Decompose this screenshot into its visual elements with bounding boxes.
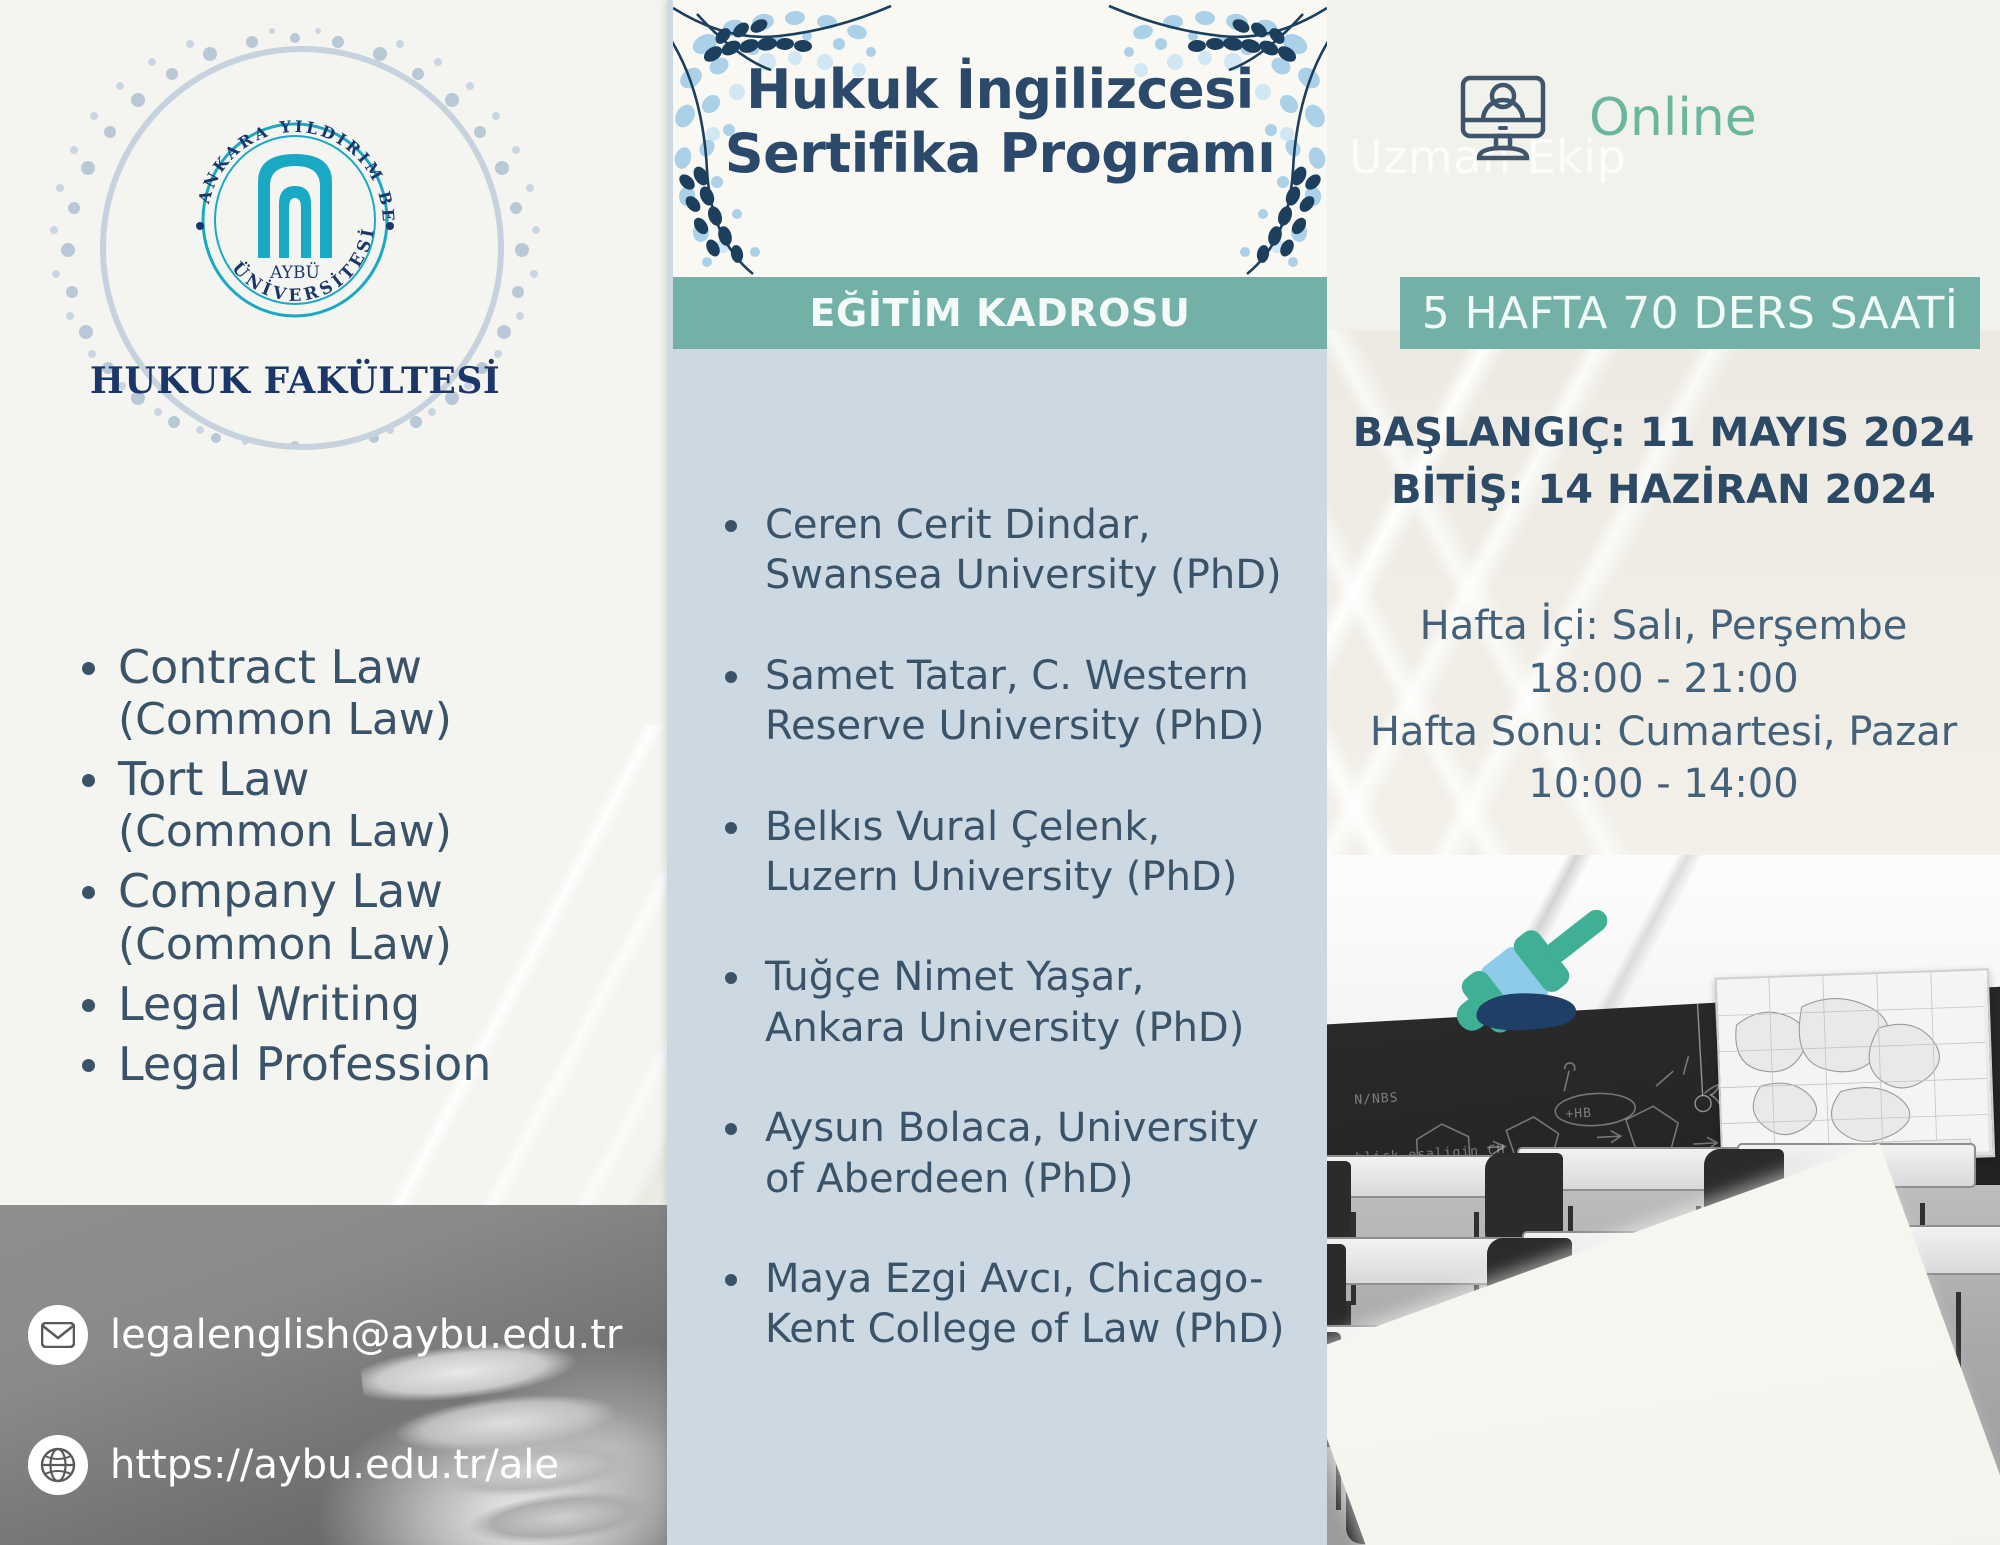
- wall-map-drawing: [1717, 970, 1989, 1160]
- end-date: BİTİŞ: 14 HAZİRAN 2024: [1327, 462, 2000, 519]
- program-title-line2: Sertifika Programı: [673, 122, 1327, 186]
- course-title: Legal Writing: [118, 977, 420, 1031]
- poster-root: AYBÜ ANKARA YILDIRIM BEYAZIT ÜNİVERSİTES…: [0, 0, 2000, 1545]
- course-title: Company Law: [118, 864, 443, 918]
- course-item: Tort Law (Common Law): [70, 752, 630, 858]
- weekday-hours: 18:00 - 21:00: [1327, 653, 2000, 706]
- start-date: BAŞLANGIÇ: 11 MAYIS 2024: [1327, 405, 2000, 462]
- right-column: Uzman Ekip Online 5 HAFTA 70 DERS SAATİ …: [1327, 0, 2000, 1545]
- contact-email-row[interactable]: legalenglish@aybu.edu.tr: [28, 1305, 622, 1365]
- faculty-name: HUKUK FAKÜLTESİ: [40, 360, 550, 402]
- course-title: Tort Law: [118, 752, 309, 806]
- program-dates: BAŞLANGIÇ: 11 MAYIS 2024 BİTİŞ: 14 HAZİR…: [1327, 405, 2000, 519]
- weekend-days: Hafta Sonu: Cumartesi, Pazar: [1327, 706, 2000, 759]
- program-title: Hukuk İngilizcesi Sertifika Programı: [673, 58, 1327, 185]
- faculty-list-item: Aysun Bolaca, University of Aberdeen (Ph…: [707, 1103, 1297, 1204]
- globe-icon: [28, 1435, 88, 1495]
- duration-badge-label: 5 HAFTA 70 DERS SAATİ: [1422, 288, 1958, 339]
- gavel-icon: [1422, 880, 1632, 1070]
- program-title-line1: Hukuk İngilizcesi: [673, 58, 1327, 122]
- course-subtitle: (Common Law): [118, 694, 630, 746]
- course-item: Contract Law (Common Law): [70, 640, 630, 746]
- online-delivery-row: Online: [1455, 68, 1757, 168]
- program-schedule: Hafta İçi: Salı, Perşembe 18:00 - 21:00 …: [1327, 600, 2000, 811]
- svg-text:AYBÜ: AYBÜ: [269, 262, 320, 283]
- aybu-crest-icon: AYBÜ ANKARA YILDIRIM BEYAZIT ÜNİVERSİTES…: [180, 120, 410, 335]
- contact-email-text: legalenglish@aybu.edu.tr: [110, 1312, 622, 1358]
- course-list: Contract Law (Common Law) Tort Law (Comm…: [70, 640, 630, 1097]
- course-item: Company Law (Common Law): [70, 864, 630, 970]
- faculty-list-item: Belkıs Vural Çelenk, Luzern University (…: [707, 802, 1297, 903]
- faculty-list-item: Samet Tatar, C. Western Reserve Universi…: [707, 651, 1297, 752]
- course-title: Legal Profession: [118, 1037, 491, 1091]
- wall-map: [1715, 968, 1995, 1166]
- online-label: Online: [1589, 88, 1757, 148]
- monitor-person-icon: [1455, 68, 1551, 168]
- contact-website-row[interactable]: https://aybu.edu.tr/ale: [28, 1435, 559, 1495]
- weekend-hours: 10:00 - 14:00: [1327, 758, 2000, 811]
- left-column: AYBÜ ANKARA YILDIRIM BEYAZIT ÜNİVERSİTES…: [0, 0, 668, 1545]
- course-subtitle: (Common Law): [118, 806, 630, 858]
- faculty-list-item: Ceren Cerit Dindar, Swansea University (…: [707, 500, 1297, 601]
- center-column: Hukuk İngilizcesi Sertifika Programı EĞİ…: [667, 0, 1327, 1545]
- faculty-section-header-label: EĞİTİM KADROSU: [810, 291, 1191, 335]
- envelope-icon: [28, 1305, 88, 1365]
- course-title: Contract Law: [118, 640, 422, 694]
- course-subtitle: (Common Law): [118, 919, 630, 971]
- contact-website-text: https://aybu.edu.tr/ale: [110, 1442, 559, 1488]
- contact-photo-panel: legalenglish@aybu.edu.tr https://aybu.ed…: [0, 1205, 668, 1545]
- svg-text:ANKARA YILDIRIM BEYAZIT: ANKARA YILDIRIM BEYAZIT: [180, 120, 398, 225]
- faculty-section-header: EĞİTİM KADROSU: [673, 277, 1327, 349]
- course-item: Legal Profession: [70, 1037, 630, 1091]
- faculty-list: Ceren Cerit Dindar, Swansea University (…: [707, 500, 1297, 1405]
- university-logo: AYBÜ ANKARA YILDIRIM BEYAZIT ÜNİVERSİTES…: [40, 28, 550, 448]
- faculty-list-item: Maya Ezgi Avcı, Chicago-Kent College of …: [707, 1254, 1297, 1355]
- course-item: Legal Writing: [70, 977, 630, 1031]
- title-card: Hukuk İngilizcesi Sertifika Programı: [673, 0, 1327, 277]
- duration-badge: 5 HAFTA 70 DERS SAATİ: [1400, 277, 1980, 349]
- faculty-list-item: Tuğçe Nimet Yaşar, Ankara University (Ph…: [707, 952, 1297, 1053]
- weekday-days: Hafta İçi: Salı, Perşembe: [1327, 600, 2000, 653]
